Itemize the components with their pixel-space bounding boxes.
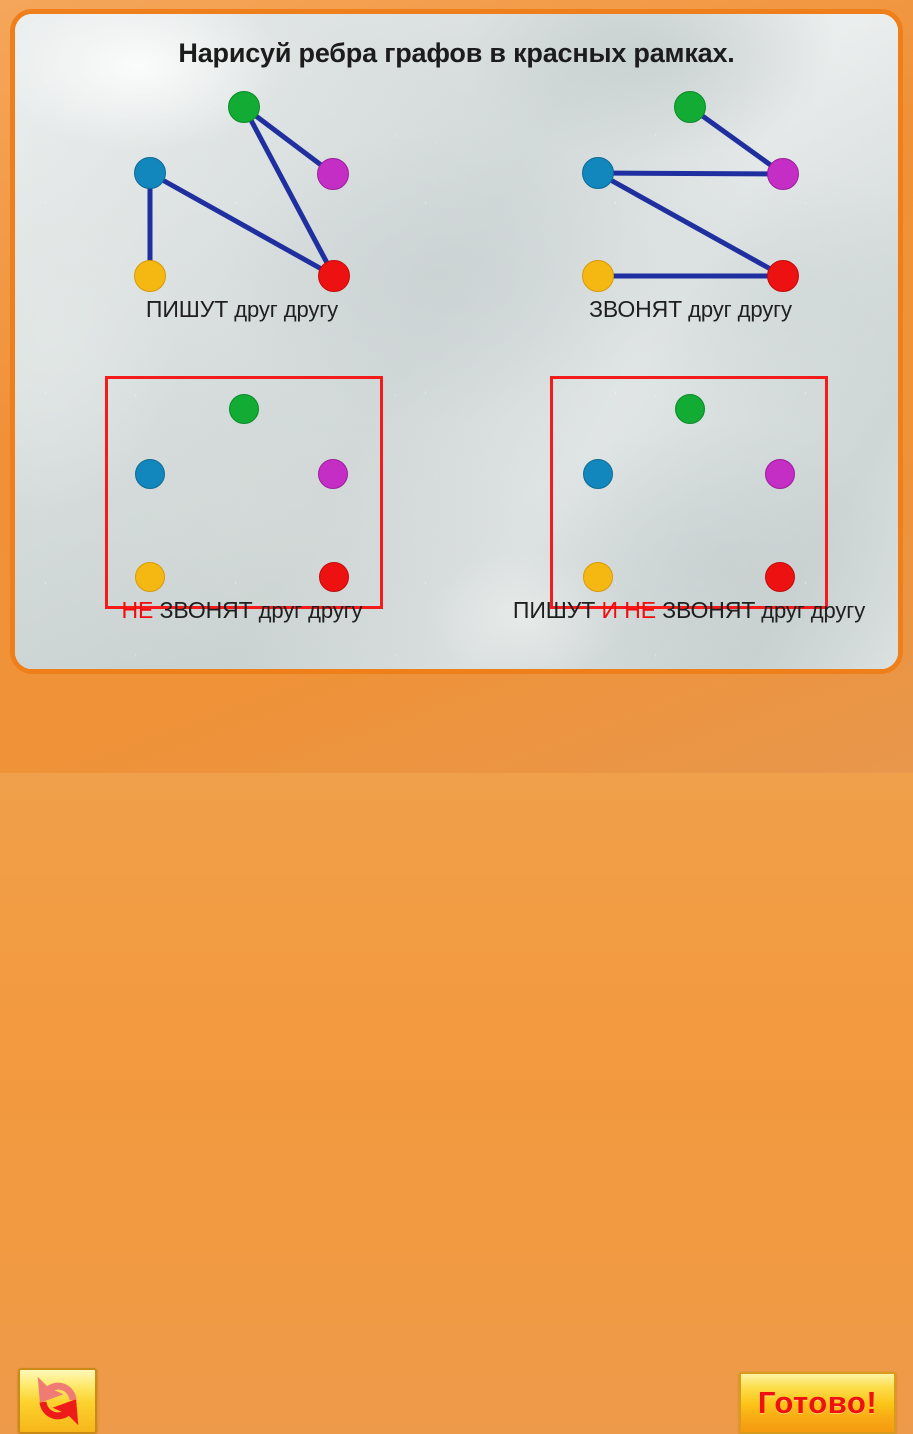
- caption-part: ЗВОНЯТ: [589, 296, 682, 322]
- caption-part: друг другу: [682, 297, 792, 322]
- application-window: Нарисуй ребра графов в красных рамках. П…: [0, 0, 913, 773]
- refresh-circular-arrows-icon: [32, 1377, 84, 1425]
- caption-part: НЕ: [122, 597, 154, 623]
- graph-node-blue[interactable]: [134, 157, 166, 189]
- graph-node-green[interactable]: [228, 91, 260, 123]
- graph-node-green[interactable]: [674, 91, 706, 123]
- caption-part: ЗВОНЯТ: [153, 597, 252, 623]
- caption-part: ПИШУТ: [146, 296, 228, 322]
- graph-node-magenta[interactable]: [318, 459, 348, 489]
- graph-node-red[interactable]: [765, 562, 795, 592]
- graph-node-red[interactable]: [318, 260, 350, 292]
- exercise-board: Нарисуй ребра графов в красных рамках. П…: [10, 9, 903, 674]
- bottom-toolbar: Готово!: [0, 674, 913, 773]
- graph-edge[interactable]: [598, 173, 783, 276]
- graph-node-magenta[interactable]: [767, 158, 799, 190]
- graph-caption: НЕ ЗВОНЯТ друг другу: [122, 597, 363, 624]
- caption-part: друг другу: [755, 598, 865, 623]
- graph-caption: ПИШУТ И НЕ ЗВОНЯТ друг другу: [513, 597, 865, 624]
- graph-node-red[interactable]: [767, 260, 799, 292]
- graph-node-red[interactable]: [319, 562, 349, 592]
- graph-caption: ЗВОНЯТ друг другу: [589, 296, 792, 323]
- caption-part: ПИШУТ: [513, 597, 595, 623]
- graph-node-blue[interactable]: [583, 459, 613, 489]
- graph-node-green[interactable]: [229, 394, 259, 424]
- graph-node-magenta[interactable]: [765, 459, 795, 489]
- graph-node-green[interactable]: [675, 394, 705, 424]
- graph-edge[interactable]: [598, 173, 783, 174]
- graph-node-yellow[interactable]: [135, 562, 165, 592]
- done-button[interactable]: Готово!: [739, 1372, 896, 1434]
- graph-caption: ПИШУТ друг другу: [146, 296, 338, 323]
- graph-node-yellow[interactable]: [582, 260, 614, 292]
- graph-node-blue[interactable]: [135, 459, 165, 489]
- caption-part: друг другу: [228, 297, 338, 322]
- graph-node-magenta[interactable]: [317, 158, 349, 190]
- done-button-label: Готово!: [758, 1385, 877, 1421]
- graph-node-yellow[interactable]: [583, 562, 613, 592]
- graph-node-yellow[interactable]: [134, 260, 166, 292]
- graph-node-blue[interactable]: [582, 157, 614, 189]
- caption-part: ЗВОНЯТ: [656, 597, 755, 623]
- caption-part: друг другу: [253, 598, 363, 623]
- caption-part: И НЕ: [595, 597, 656, 623]
- reset-button[interactable]: [18, 1368, 97, 1434]
